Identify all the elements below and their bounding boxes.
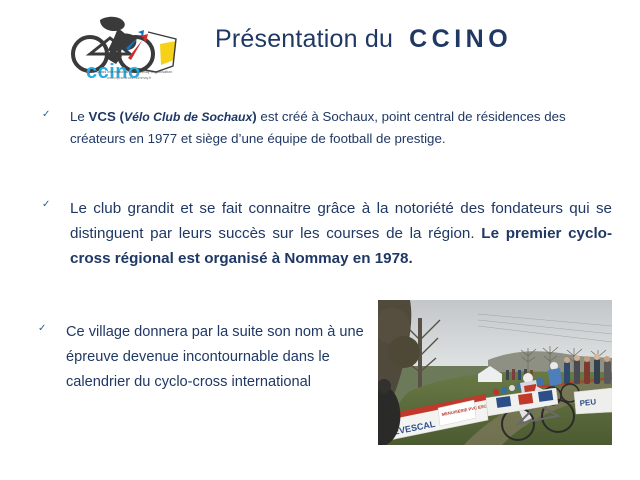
logo-website: www.cyclo-cross-nommay.fr (64, 76, 194, 81)
slide-canvas: ccino Cyclo-Cross International de Nomma… (0, 0, 640, 480)
bullet-1-seg-1: VCS (89, 109, 116, 124)
slide-header: ccino Cyclo-Cross International de Nomma… (0, 0, 640, 92)
checkmark-icon: ✓ (42, 107, 58, 123)
bullet-item-1: ✓ Le VCS (Vélo Club de Sochaux) est créé… (42, 106, 607, 149)
photo-banner-text-3: PEU (579, 397, 597, 408)
ccino-logo: ccino Cyclo-Cross International de Nomma… (64, 8, 194, 88)
logo-tagline: Cyclo-Cross International de Nommay Orga… (64, 70, 194, 75)
checkmark-icon: ✓ (42, 197, 58, 213)
photo-foliage-blob-2 (388, 336, 420, 368)
cyclocross-race-photo-graphic: PEVESCAL MENUISERIE PVC ESCALIERS PEU (378, 300, 612, 445)
bullet-1-seg-0: Le (70, 109, 89, 124)
checkmark-icon: ✓ (38, 321, 54, 337)
cyclocross-race-photo: PEVESCAL MENUISERIE PVC ESCALIERS PEU (378, 300, 612, 445)
bullet-item-3: ✓ Ce village donnera par la suite son no… (38, 320, 368, 395)
bullet-3-text: Ce village donnera par la suite son nom … (66, 320, 368, 395)
bullet-2-text: Le club grandit et se fait connaitre grâ… (70, 196, 612, 271)
bullet-1-text: Le VCS (Vélo Club de Sochaux) est créé à… (70, 106, 607, 149)
bullet-1-seg-3: Vélo Club de Sochaux (124, 110, 252, 124)
page-title: Présentation duCCINO (215, 22, 635, 56)
page-title-prefix: Présentation du (215, 25, 393, 53)
logo-helmet (100, 17, 125, 31)
page-title-accent: CCINO (409, 25, 512, 53)
bullet-1-seg-2: ( (116, 109, 124, 124)
bullet-item-2: ✓ Le club grandit et se fait connaitre g… (42, 196, 612, 271)
